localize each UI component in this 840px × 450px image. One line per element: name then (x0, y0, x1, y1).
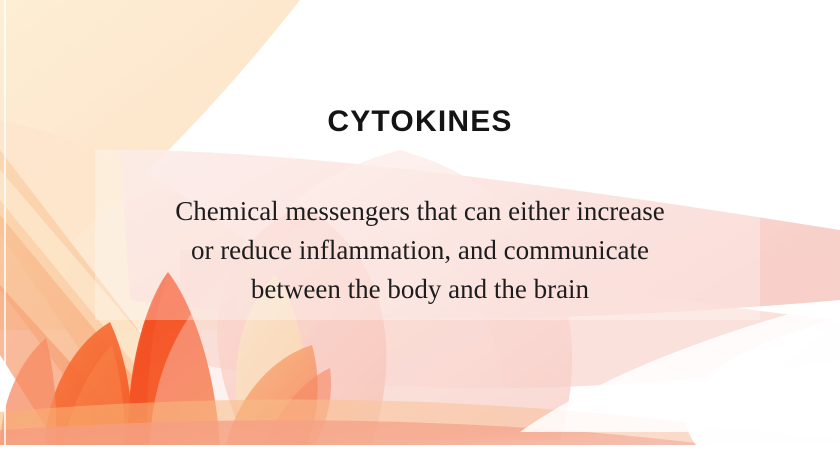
description-line-1: Chemical messengers that can either incr… (0, 192, 840, 231)
frame-line-bottom (0, 445, 840, 450)
description-line-3: between the body and the brain (0, 270, 840, 309)
slide-canvas: CYTOKINES Chemical messengers that can e… (0, 0, 840, 450)
slide-description: Chemical messengers that can either incr… (0, 192, 840, 309)
description-line-2: or reduce inflammation, and communicate (0, 231, 840, 270)
page-title: CYTOKINES (0, 104, 840, 140)
